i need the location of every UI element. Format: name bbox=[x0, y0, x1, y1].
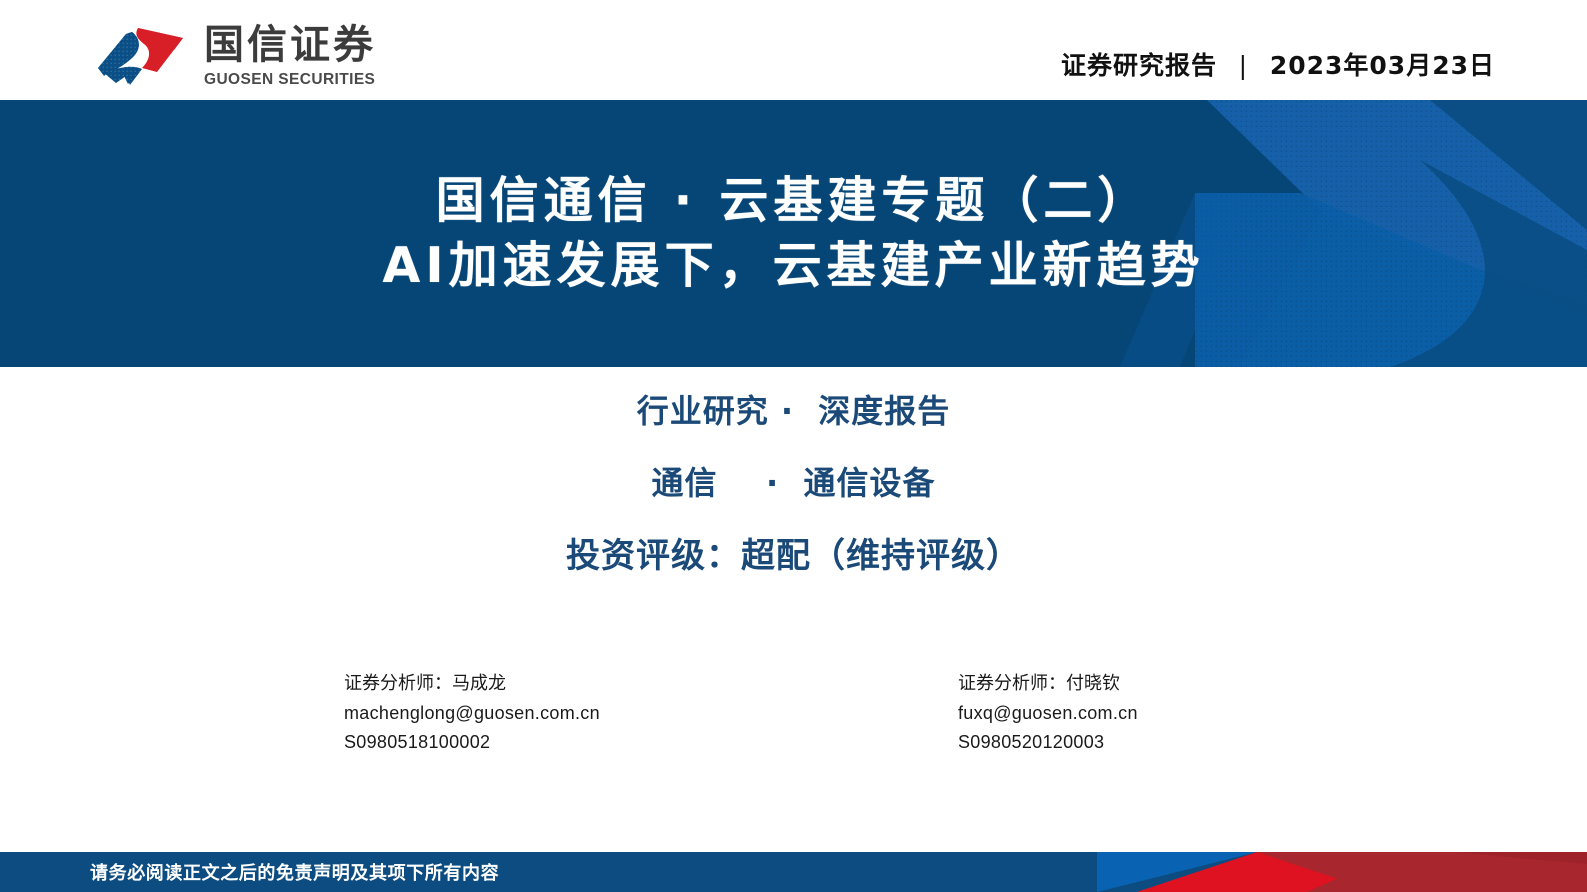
industry-sector: 通信 · 通信设备 bbox=[651, 467, 935, 499]
analyst-block: 证券分析师：马成龙 machenglong@guosen.com.cn S098… bbox=[0, 670, 1587, 770]
brand-logo: 国信证券 GUOSEN SECURITIES bbox=[86, 18, 376, 92]
page-header: 国信证券 GUOSEN SECURITIES 证券研究报告 | 2023年03月… bbox=[0, 0, 1587, 100]
research-category: 行业研究 · 深度报告 bbox=[637, 395, 951, 427]
analyst-email[interactable]: machenglong@guosen.com.cn bbox=[344, 699, 600, 728]
guosen-logo-mark-icon bbox=[86, 18, 194, 92]
report-classification: 行业研究 · 深度报告 通信 · 通信设备 投资评级：超配（维持评级） bbox=[0, 395, 1587, 573]
analyst-name: 证券分析师：马成龙 bbox=[344, 670, 600, 699]
report-title: 国信通信 · 云基建专题（二） AI加速发展下，云基建产业新趋势 bbox=[0, 100, 1587, 367]
page-footer: 请务必阅读正文之后的免责声明及其项下所有内容 bbox=[0, 852, 1587, 892]
header-meta: 证券研究报告 | 2023年03月23日 bbox=[1061, 46, 1495, 82]
analyst-license-number: S0980520120003 bbox=[958, 728, 1138, 757]
analyst-license-number: S0980518100002 bbox=[344, 728, 600, 757]
brand-name-en: GUOSEN SECURITIES bbox=[204, 72, 376, 88]
footer-disclaimer: 请务必阅读正文之后的免责声明及其项下所有内容 bbox=[90, 852, 499, 892]
publication-date: 2023年03月23日 bbox=[1270, 51, 1495, 80]
investment-rating: 投资评级：超配（维持评级） bbox=[566, 539, 1021, 573]
footer-decorative-triangles bbox=[1097, 852, 1587, 892]
analyst-email[interactable]: fuxq@guosen.com.cn bbox=[958, 699, 1138, 728]
report-title-line-1: 国信通信 · 云基建专题（二） bbox=[436, 169, 1152, 234]
analyst-entry: 证券分析师：马成龙 machenglong@guosen.com.cn S098… bbox=[344, 670, 600, 756]
document-type-label: 证券研究报告 bbox=[1061, 51, 1217, 80]
header-separator: | bbox=[1239, 51, 1248, 80]
title-banner: 国信通信 · 云基建专题（二） AI加速发展下，云基建产业新趋势 bbox=[0, 100, 1587, 367]
analyst-entry: 证券分析师：付晓钦 fuxq@guosen.com.cn S0980520120… bbox=[958, 670, 1138, 756]
report-title-line-2: AI加速发展下，云基建产业新趋势 bbox=[382, 234, 1204, 299]
analyst-name: 证券分析师：付晓钦 bbox=[958, 670, 1138, 699]
brand-name-cn: 国信证券 bbox=[204, 25, 376, 65]
brand-wordmark: 国信证券 GUOSEN SECURITIES bbox=[204, 23, 376, 88]
